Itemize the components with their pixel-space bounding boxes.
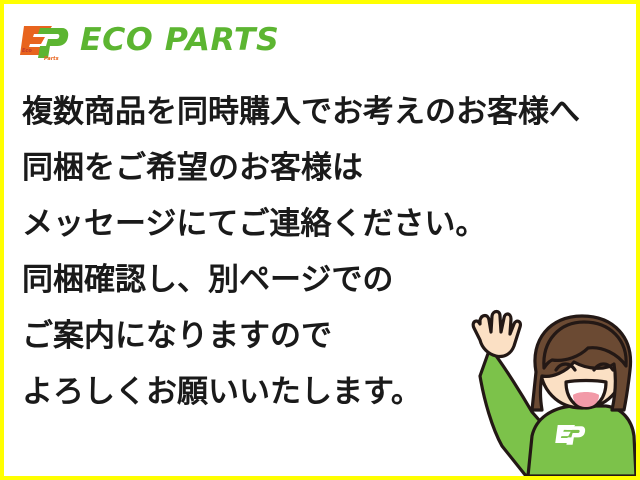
eco-parts-logo-mark-icon: Eco Parts	[18, 18, 70, 62]
message-line-3: メッセージにてご連絡ください。	[22, 196, 626, 252]
eco-parts-wordmark: ECO PARTS	[80, 25, 279, 56]
brand-header: Eco Parts ECO PARTS	[18, 14, 275, 66]
svg-text:Parts: Parts	[44, 56, 59, 62]
message-line-1: 複数商品を同時購入でお考えのお客様へ	[22, 84, 626, 140]
waving-woman-mascot-illustration	[456, 296, 636, 476]
svg-text:Eco: Eco	[22, 48, 32, 54]
eco-parts-notice-banner: Eco Parts ECO PARTS 複数商品を同時購入でお考えのお客様へ 同…	[0, 0, 640, 480]
message-line-2: 同梱をご希望のお客様は	[22, 140, 626, 196]
